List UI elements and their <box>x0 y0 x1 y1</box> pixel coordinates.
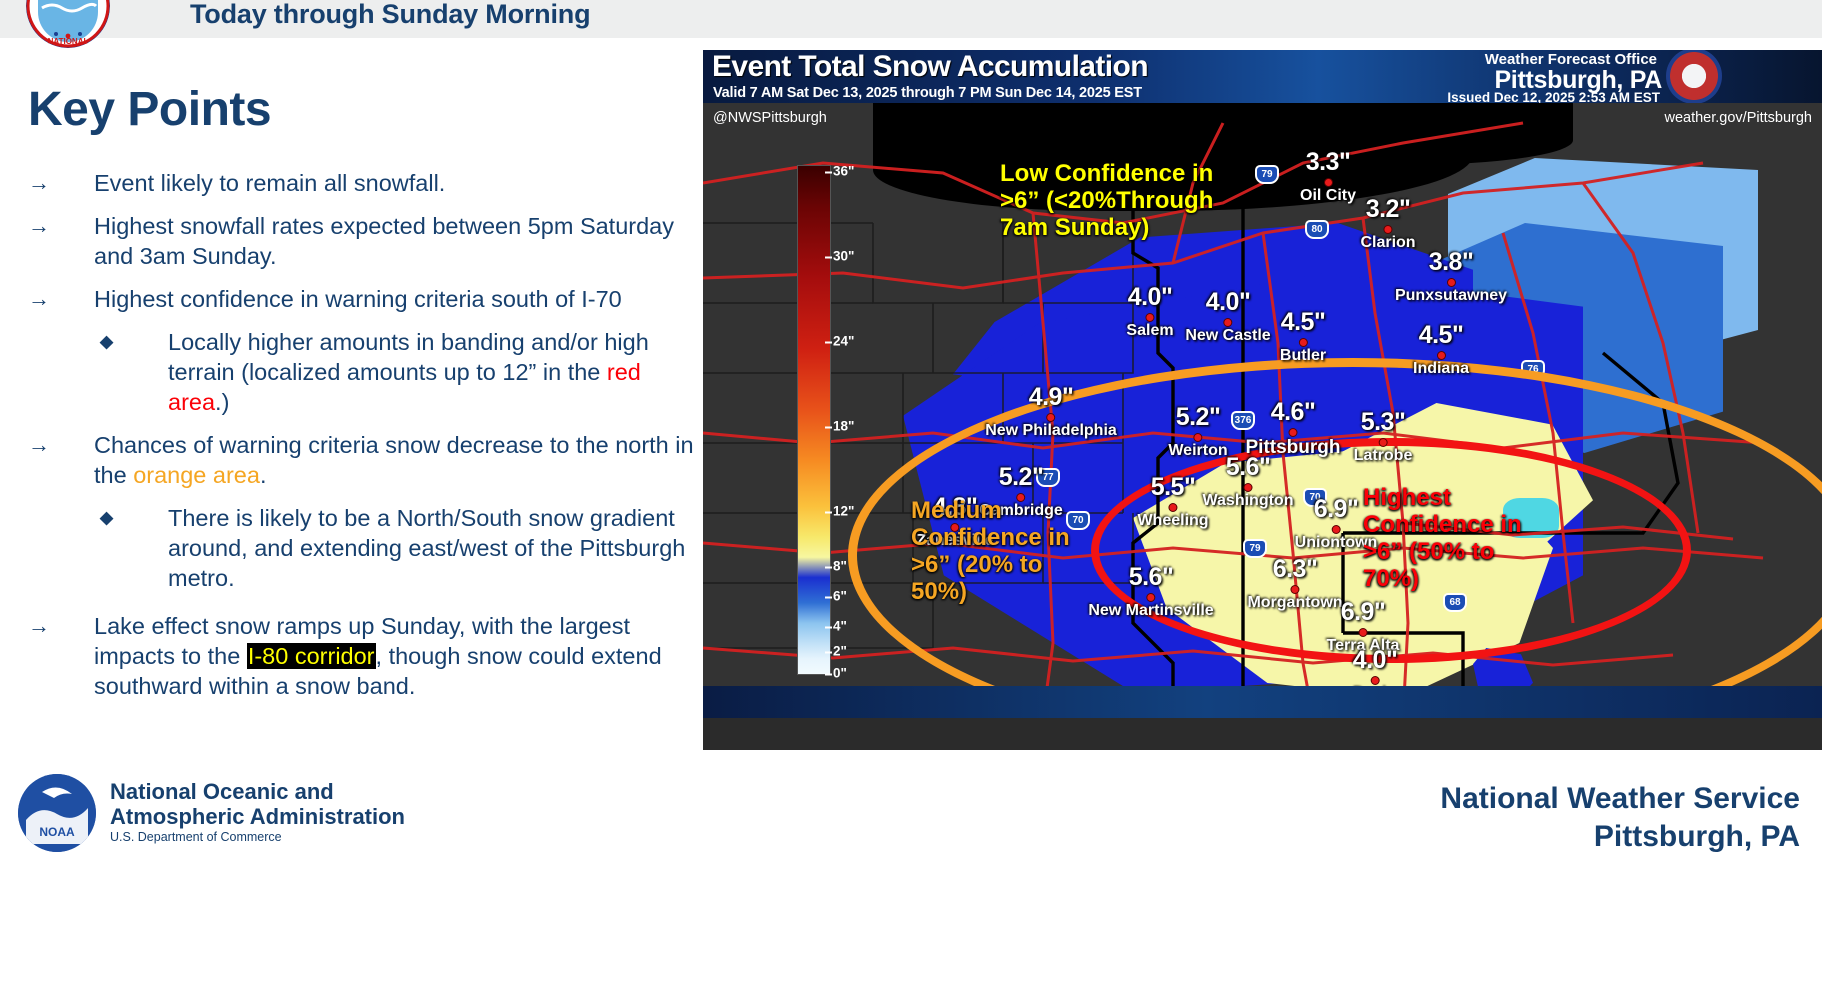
city-wheeling: 5.5"Wheeling <box>1137 473 1208 529</box>
colorbar-tick-18: 18" <box>833 419 854 434</box>
slide-header-title: Today through Sunday Morning <box>190 0 590 30</box>
diamond-bullet-icon: ◆ <box>100 503 168 533</box>
city-dot <box>1224 318 1233 327</box>
colorbar-tick-2: 2" <box>833 644 847 659</box>
colorbar-tick-36: 36" <box>833 164 854 179</box>
city-dot <box>1447 278 1456 287</box>
colorbar-tick-6: 6" <box>833 589 847 604</box>
orange-area-emphasis: orange area <box>133 462 260 488</box>
colorbar-tick-12: 12" <box>833 504 854 519</box>
low-confidence-annotation: Low Confidence in >6” (<20%Through 7am S… <box>1000 161 1250 242</box>
map-canvas: Storm Total Snow Amounts (in) 36" 30" 24… <box>703 103 1822 718</box>
arrow-bullet-icon: → <box>28 611 94 641</box>
slide-footer: NOAA National Oceanic and Atmospheric Ad… <box>0 762 1822 983</box>
colorbar-tick-24: 24" <box>833 334 854 349</box>
city-dot <box>1291 585 1300 594</box>
page-title: Key Points <box>28 82 271 137</box>
city-dot <box>1384 225 1393 234</box>
list-item: → Chances of warning criteria snow decre… <box>28 430 708 490</box>
city-dot <box>1358 628 1367 637</box>
city-dot <box>1289 428 1298 437</box>
noaa-agency-name: National Oceanic and Atmospheric Adminis… <box>110 780 405 829</box>
nws-agency-line-2: Pittsburgh, PA <box>1594 820 1800 854</box>
map-title: Event Total Snow Accumulation <box>712 50 1148 84</box>
map-footer-bar <box>703 686 1822 718</box>
snow-accumulation-map: Event Total Snow Accumulation Valid 7 AM… <box>703 50 1822 750</box>
i80-corridor-highlight: I-80 corridor <box>247 643 376 669</box>
city-oil-city: 3.3"Oil City <box>1300 148 1356 204</box>
city-weirton: 5.2"Weirton <box>1168 403 1227 459</box>
city-new-castle: 4.0"New Castle <box>1185 288 1270 344</box>
city-dot <box>1168 503 1177 512</box>
noaa-department-line: U.S. Department of Commerce <box>110 830 282 844</box>
city-dot <box>1298 338 1307 347</box>
city-salem: 4.0"Salem <box>1126 283 1173 339</box>
list-item-text: Lake effect snow ramps up Sunday, with t… <box>94 611 708 701</box>
noaa-logo: NOAA <box>18 774 96 852</box>
list-item-text: Chances of warning criteria snow decreas… <box>94 430 708 490</box>
shield-i80: 80 <box>1305 220 1329 239</box>
list-item: → Highest confidence in warning criteria… <box>28 284 708 314</box>
arrow-bullet-icon: → <box>28 168 94 198</box>
city-dot <box>1331 525 1340 534</box>
city-dot <box>1193 433 1202 442</box>
map-valid-period: Valid 7 AM Sat Dec 13, 2025 through 7 PM… <box>713 85 1142 101</box>
colorbar-tick-4: 4" <box>833 619 847 634</box>
svg-text:NOAA: NOAA <box>39 825 75 839</box>
arrow-bullet-icon: → <box>28 211 94 241</box>
nws-seal-logo: NATIONAL <box>26 0 110 48</box>
list-item-text: There is likely to be a North/South snow… <box>168 503 708 593</box>
city-dot <box>1323 178 1332 187</box>
list-item-sub: ◆ There is likely to be a North/South sn… <box>100 503 708 593</box>
city-dot <box>1370 676 1379 685</box>
city-dot <box>1047 413 1056 422</box>
city-new-martinsville: 5.6"New Martinsville <box>1088 563 1213 619</box>
city-new-philadelphia: 4.9"New Philadelphia <box>985 383 1117 439</box>
city-indiana: 4.5"Indiana <box>1413 321 1469 377</box>
noaa-line-1: National Oceanic and <box>110 779 334 804</box>
noaa-seal-icon <box>1666 50 1722 104</box>
colorbar-tick-0: 0" <box>833 666 847 681</box>
list-item-sub: ◆ Locally higher amounts in banding and/… <box>100 327 708 417</box>
city-butler: 4.5"Butler <box>1280 308 1326 364</box>
medium-confidence-annotation: Medium Confidence in >6” (20% to 50%) <box>911 498 1091 606</box>
list-item: → Event likely to remain all snowfall. <box>28 168 708 198</box>
city-dot <box>1243 483 1252 492</box>
city-pittsburgh: 4.6"Pittsburgh <box>1246 398 1341 457</box>
weather-gov-url: weather.gov/Pittsburgh <box>1664 110 1812 126</box>
list-item: → Highest snowfall rates expected betwee… <box>28 211 708 271</box>
social-handle: @NWSPittsburgh <box>713 110 827 126</box>
key-points-list: → Event likely to remain all snowfall. →… <box>28 168 708 714</box>
colorbar-tick-8: 8" <box>833 559 847 574</box>
list-item-text: Highest snowfall rates expected between … <box>94 211 708 271</box>
high-confidence-annotation: Highest Confidence in >6” (50% to 70%) <box>1363 485 1543 593</box>
list-item: → Lake effect snow ramps up Sunday, with… <box>28 611 708 701</box>
city-dot <box>1145 313 1154 322</box>
shield-i79: 79 <box>1255 165 1279 184</box>
colorbar-gradient <box>797 165 831 675</box>
arrow-bullet-icon: → <box>28 430 94 460</box>
city-dot <box>1436 351 1445 360</box>
city-dot <box>1147 593 1156 602</box>
arrow-bullet-icon: → <box>28 284 94 314</box>
city-dot <box>1378 438 1387 447</box>
list-item-text: Event likely to remain all snowfall. <box>94 168 708 198</box>
diamond-bullet-icon: ◆ <box>100 327 168 357</box>
list-item-text: Highest confidence in warning criteria s… <box>94 284 708 314</box>
city-latrobe: 5.3"Latrobe <box>1354 408 1413 464</box>
city-clarion: 3.2"Clarion <box>1360 195 1415 251</box>
nws-agency-line-1: National Weather Service <box>1440 782 1800 816</box>
city-punxsutawney: 3.8"Punxsutawney <box>1395 248 1507 304</box>
list-item-text: Locally higher amounts in banding and/or… <box>168 327 708 417</box>
colorbar-tick-30: 30" <box>833 249 854 264</box>
city-washington: 5.6"Washington <box>1203 453 1294 509</box>
noaa-line-2: Atmospheric Administration <box>110 804 405 829</box>
